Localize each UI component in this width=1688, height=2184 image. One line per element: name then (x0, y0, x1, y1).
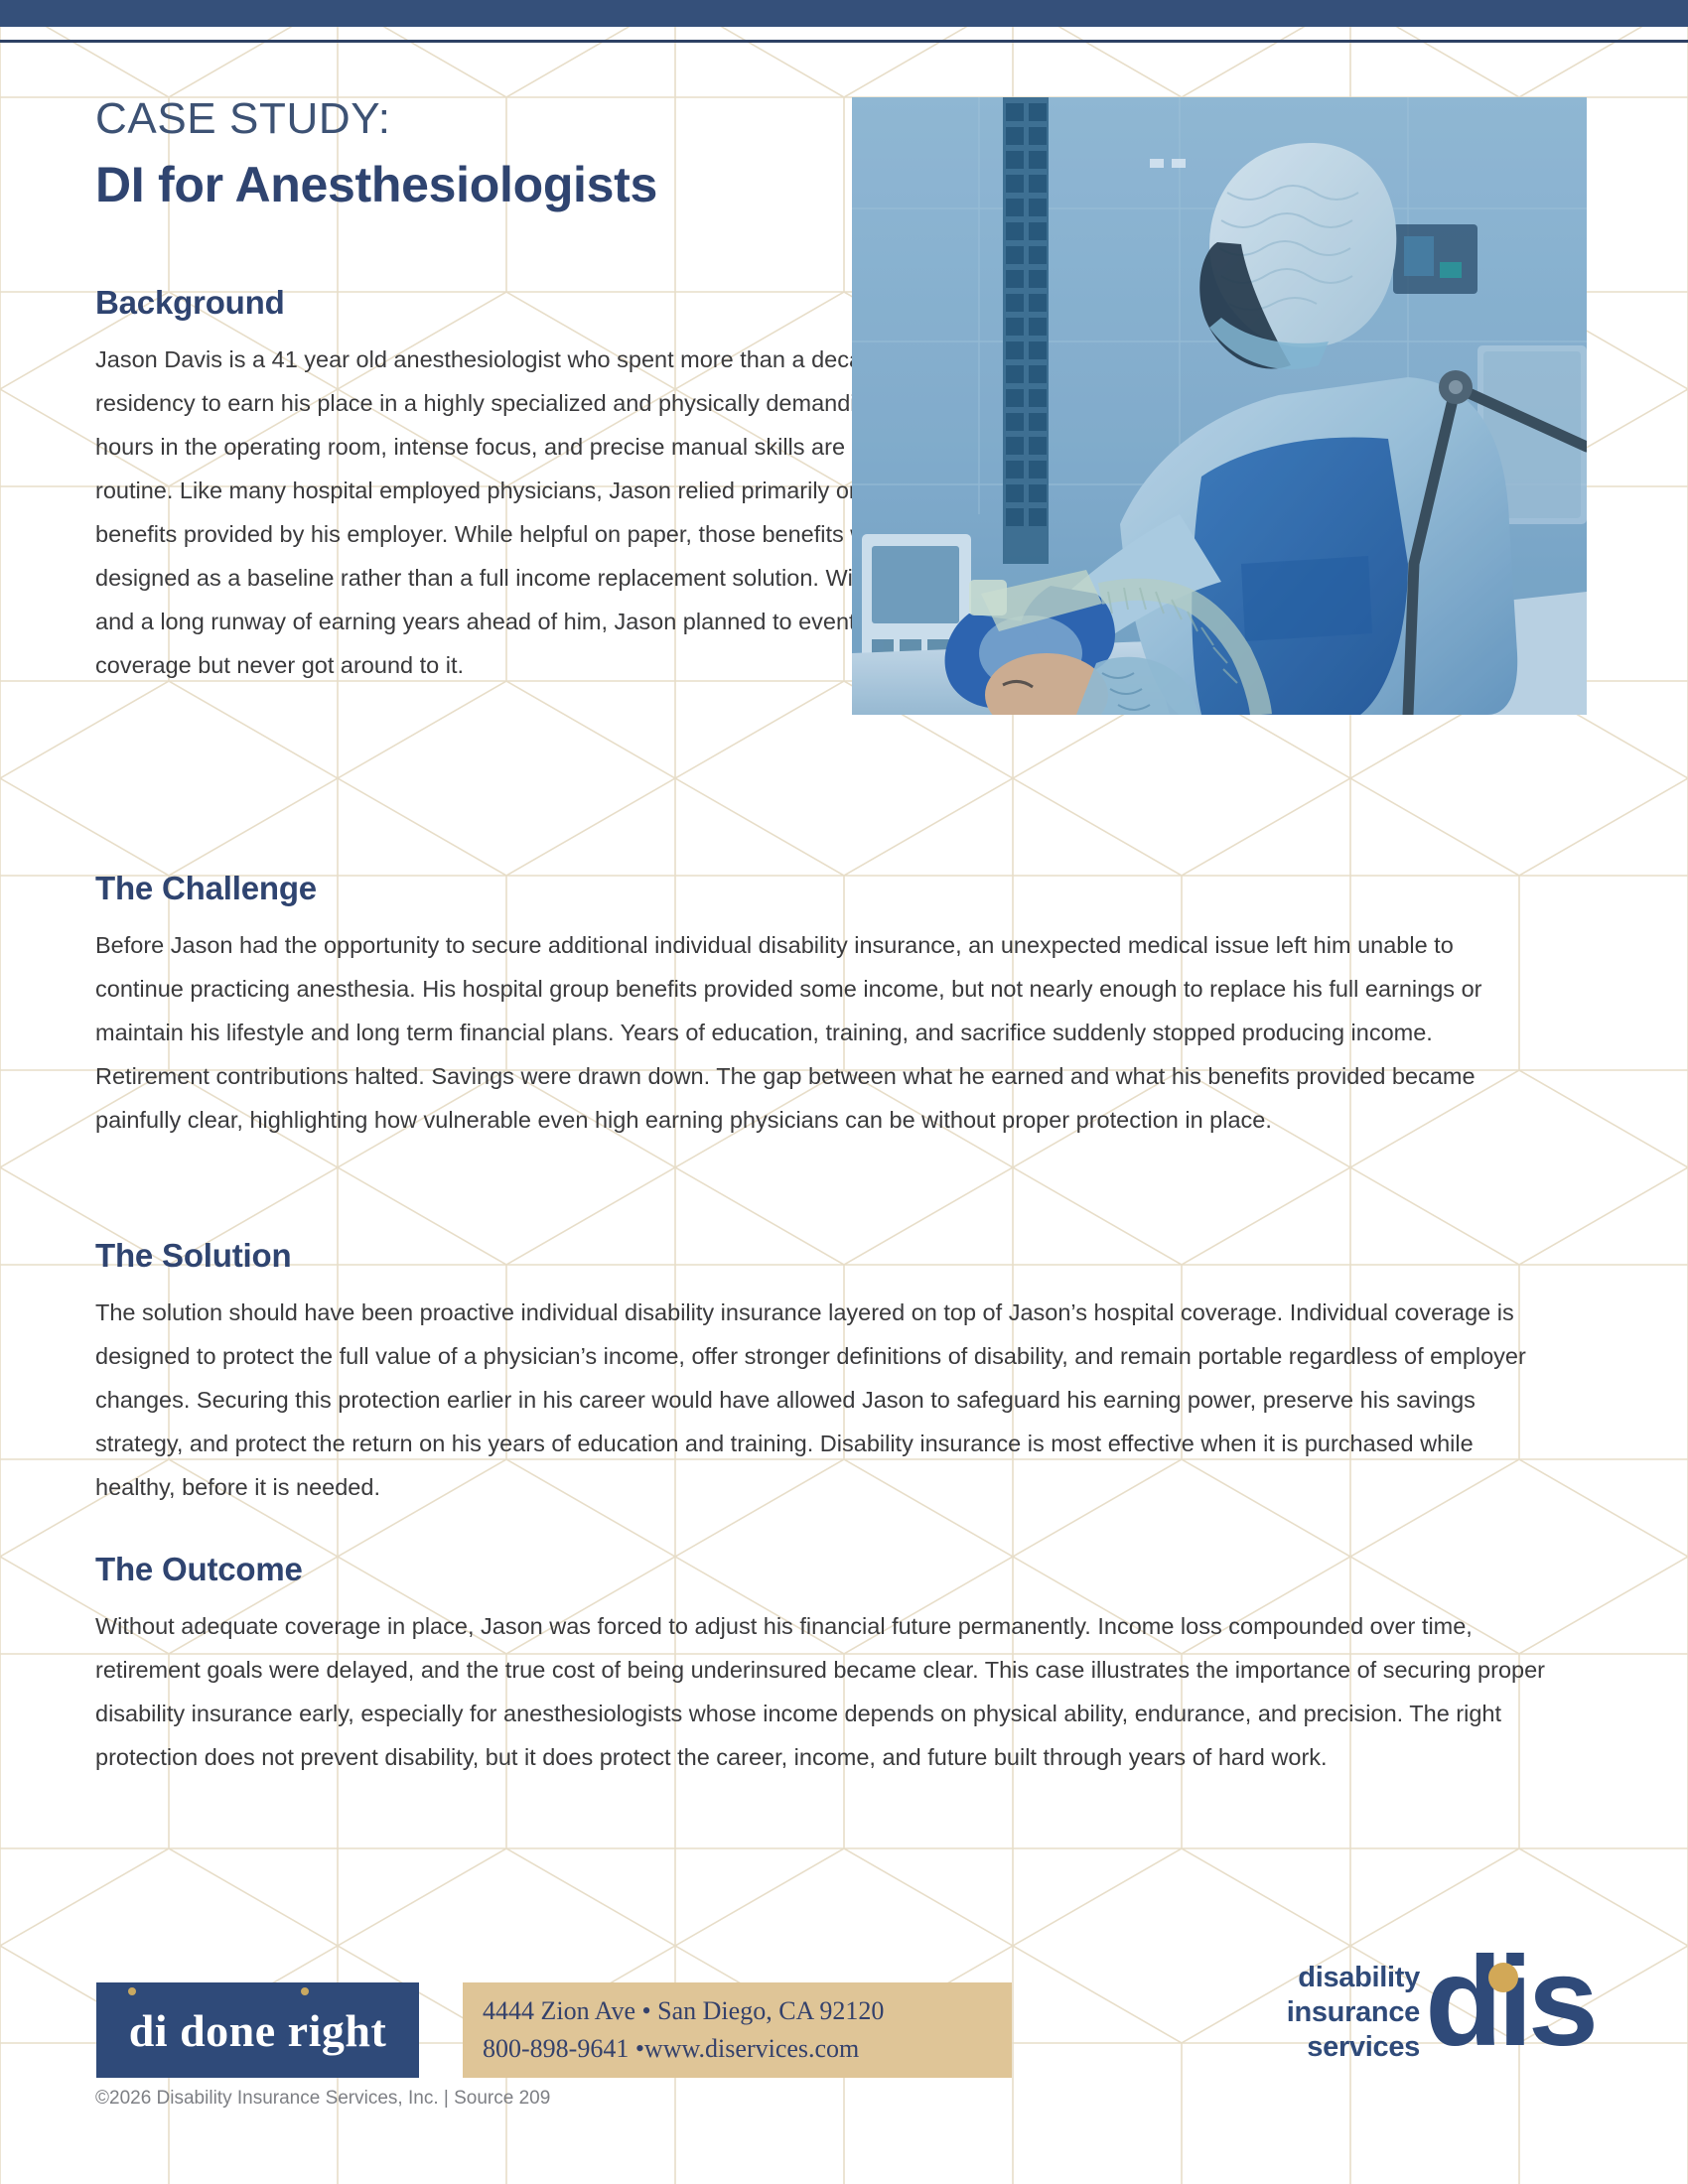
document-page: CASE STUDY: DI for Anesthesiologists (0, 0, 1688, 2184)
document-content: CASE STUDY: DI for Anesthesiologists (0, 0, 1688, 2184)
page-title: DI for Anesthesiologists (95, 157, 657, 212)
dis-company-logo: disability insurance services dis (1246, 1941, 1594, 2095)
section-heading-background: Background (95, 284, 285, 322)
address-line: 4444 Zion Ave • San Diego, CA 92120 (483, 1992, 1012, 2030)
header-rule (0, 40, 1688, 43)
gold-dot-icon-i1 (128, 1987, 136, 1995)
phone-and-website-line[interactable]: 800-898-9641 •www.diservices.com (483, 2030, 1012, 2068)
dis-word-insurance: insurance (1287, 1995, 1420, 2030)
dis-logo-mark: dis (1425, 1939, 1594, 2066)
di-done-right-logo-text: di done right (129, 2004, 387, 2057)
dis-word-services: services (1287, 2030, 1420, 2065)
section-body-challenge: Before Jason had the opportunity to secu… (95, 923, 1547, 1142)
copyright-notice: ©2026 Disability Insurance Services, Inc… (95, 2088, 550, 2110)
section-heading-challenge: The Challenge (95, 870, 317, 907)
contact-info-band: 4444 Zion Ave • San Diego, CA 92120 800-… (463, 1982, 1012, 2078)
section-body-outcome: Without adequate coverage in place, Jaso… (95, 1604, 1547, 1779)
section-body-solution: The solution should have been proactive … (95, 1291, 1547, 1509)
header-accent-bar (0, 0, 1688, 27)
di-done-right-logo: di done right (96, 1982, 419, 2078)
dis-logo-wordmark: disability insurance services (1287, 1961, 1420, 2065)
gold-dot-icon-dis (1488, 1963, 1518, 1992)
operating-room-illustration (852, 97, 1587, 715)
hero-image-anesthesiologist (852, 97, 1587, 715)
dis-word-disability: disability (1287, 1961, 1420, 1995)
page-eyebrow: CASE STUDY: (95, 95, 391, 143)
section-heading-outcome: The Outcome (95, 1551, 303, 1588)
section-heading-solution: The Solution (95, 1237, 291, 1275)
gold-dot-icon-i2 (301, 1987, 309, 1995)
